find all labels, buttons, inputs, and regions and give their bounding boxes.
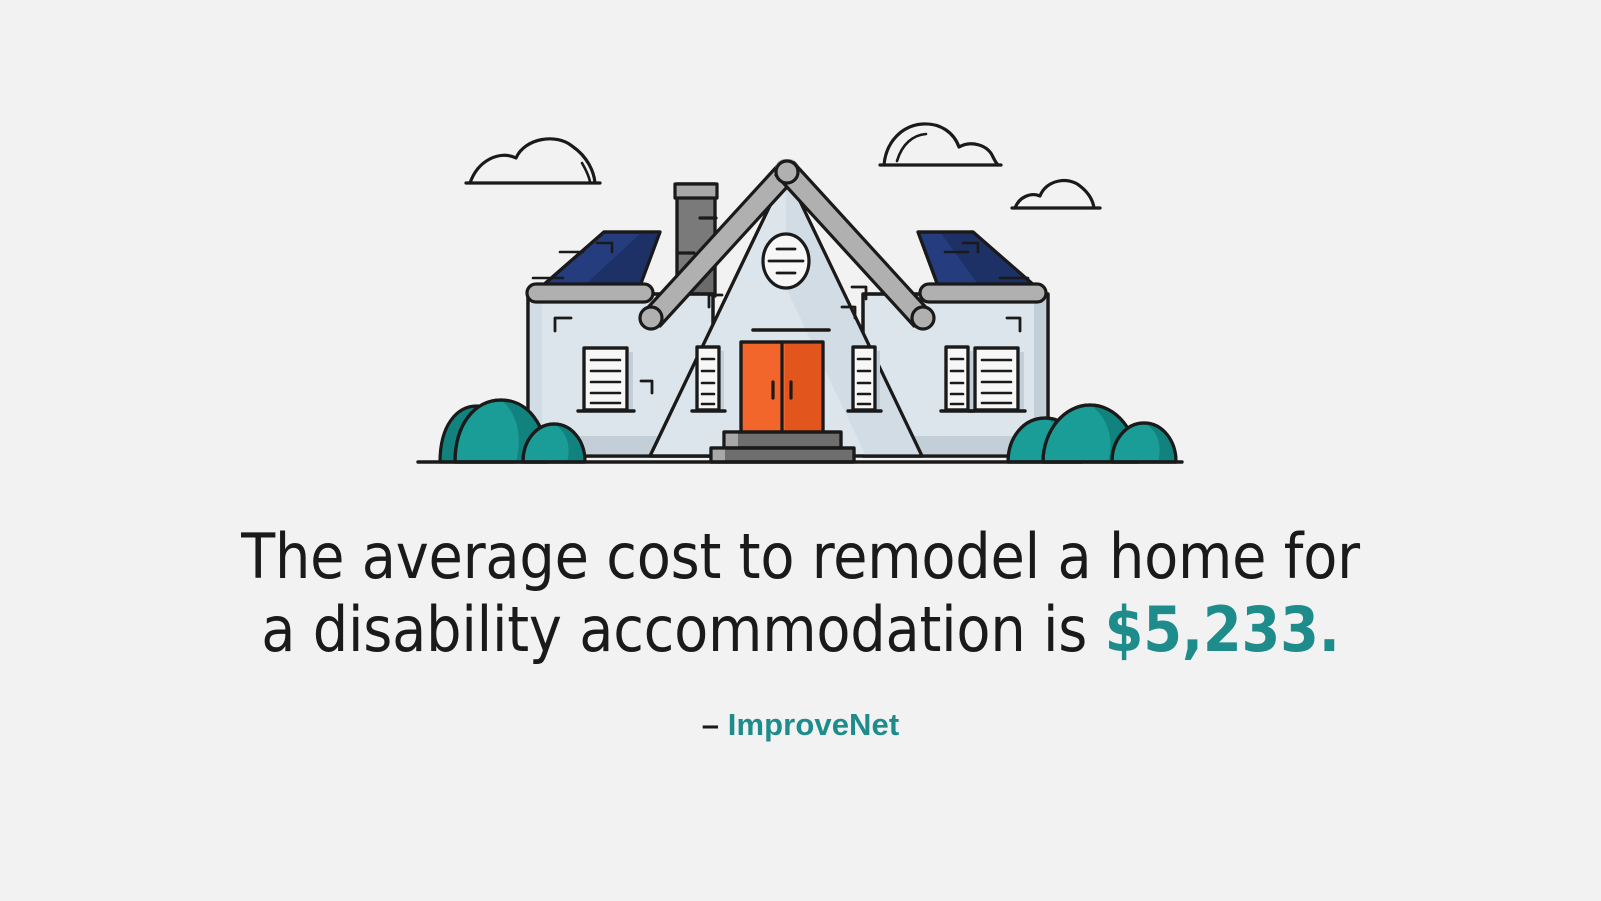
front-door xyxy=(741,342,823,440)
page-title: The average cost to remodel a home for a… xyxy=(0,520,1601,666)
attribution: – ImproveNet xyxy=(0,666,1601,742)
attribution-dash: – xyxy=(702,707,719,742)
infographic-canvas: The average cost to remodel a home for a… xyxy=(0,0,1601,901)
headline-line-1: The average cost to remodel a home for xyxy=(120,520,1481,593)
shutter-window xyxy=(941,347,974,411)
shutter-window xyxy=(692,347,725,411)
attic-window xyxy=(763,234,809,288)
house-illustration-svg xyxy=(0,0,1601,500)
house-illustration xyxy=(0,0,1601,500)
headline-line-2-prefix: a disability accommodation is xyxy=(261,593,1104,666)
headline-line-2: a disability accommodation is $5,233. xyxy=(120,593,1481,666)
shutter-window xyxy=(969,348,1025,411)
cost-amount: $5,233. xyxy=(1105,593,1340,666)
shutter-window xyxy=(848,347,881,411)
shutter-window xyxy=(578,348,634,411)
caption-block: The average cost to remodel a home for a… xyxy=(0,520,1601,742)
door-steps xyxy=(711,432,854,462)
attribution-source: ImproveNet xyxy=(728,707,900,742)
